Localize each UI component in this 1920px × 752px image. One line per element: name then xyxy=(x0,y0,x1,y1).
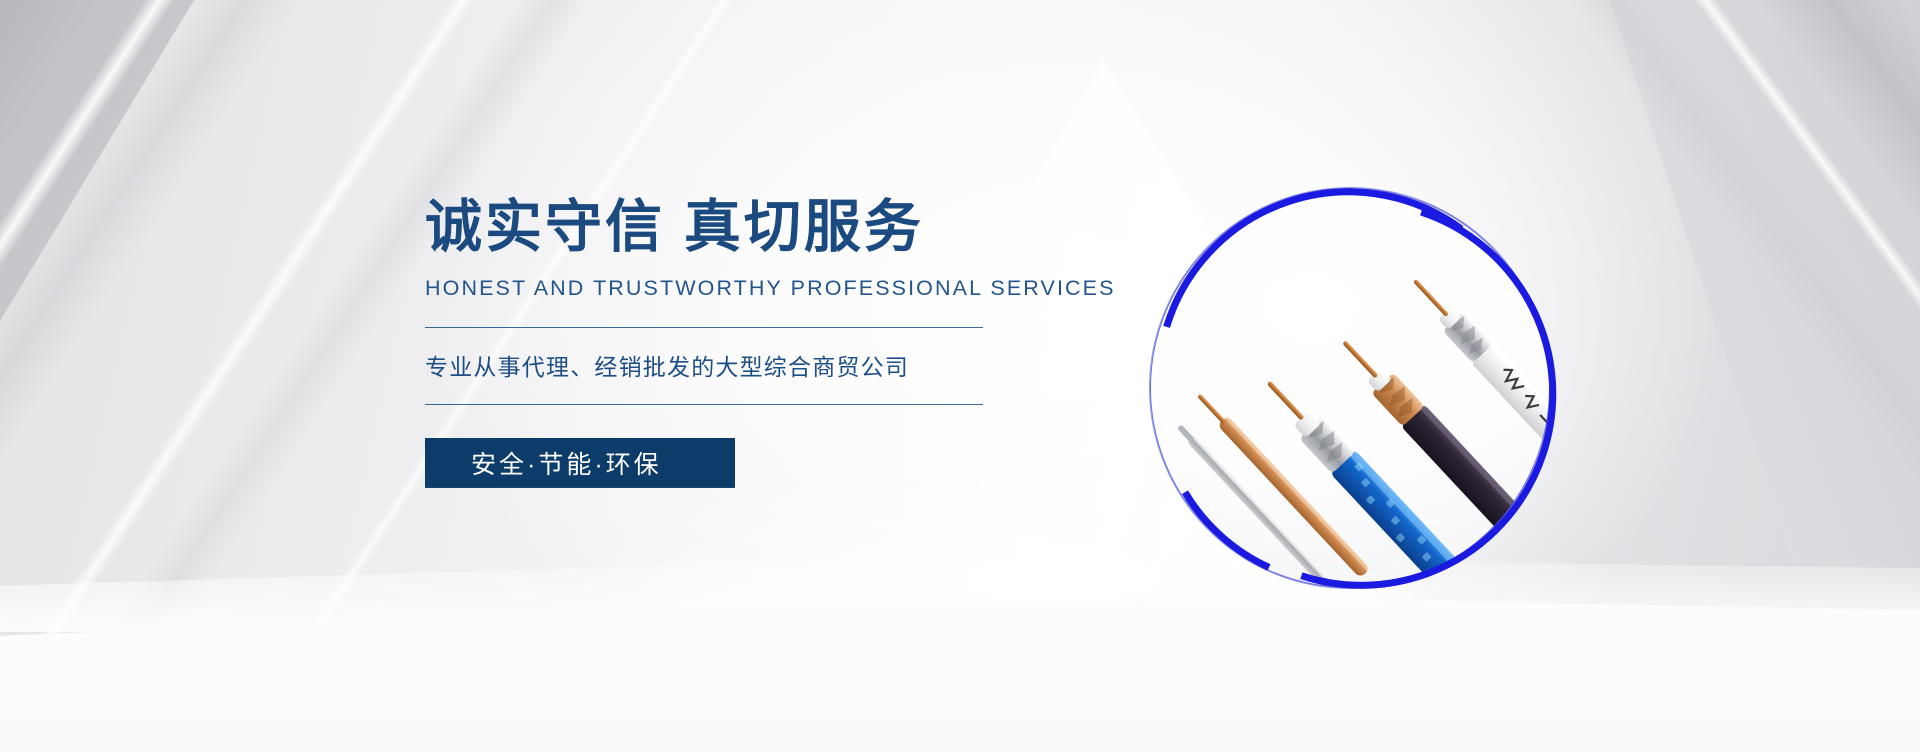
text-block: 诚实守信 真切服务 HONEST AND TRUSTWORTHY PROFESS… xyxy=(425,196,1025,493)
divider-bottom xyxy=(425,404,983,405)
ring-arc-right xyxy=(1301,212,1552,585)
decorative-blue-ring xyxy=(1140,178,1560,598)
headline: 诚实守信 真切服务 xyxy=(425,196,1025,260)
badge-wrapper: 安全·节能·环保 xyxy=(425,438,1025,493)
badge-label: 安全·节能·环保 xyxy=(425,438,735,488)
divider-top xyxy=(425,327,983,328)
tagline: 专业从事代理、经销批发的大型综合商贸公司 xyxy=(425,348,1025,382)
hero-banner: 诚实守信 真切服务 HONEST AND TRUSTWORTHY PROFESS… xyxy=(0,0,1920,752)
ring-arc-top-left xyxy=(1167,192,1462,327)
banner-content: 诚实守信 真切服务 HONEST AND TRUSTWORTHY PROFESS… xyxy=(0,0,1920,752)
feature-badge: 安全·节能·环保 xyxy=(425,438,735,488)
product-photo-zone xyxy=(1140,178,1560,598)
ring-arc-bottom-left xyxy=(1185,492,1269,567)
subtitle-english: HONEST AND TRUSTWORTHY PROFESSIONAL SERV… xyxy=(425,276,1025,301)
